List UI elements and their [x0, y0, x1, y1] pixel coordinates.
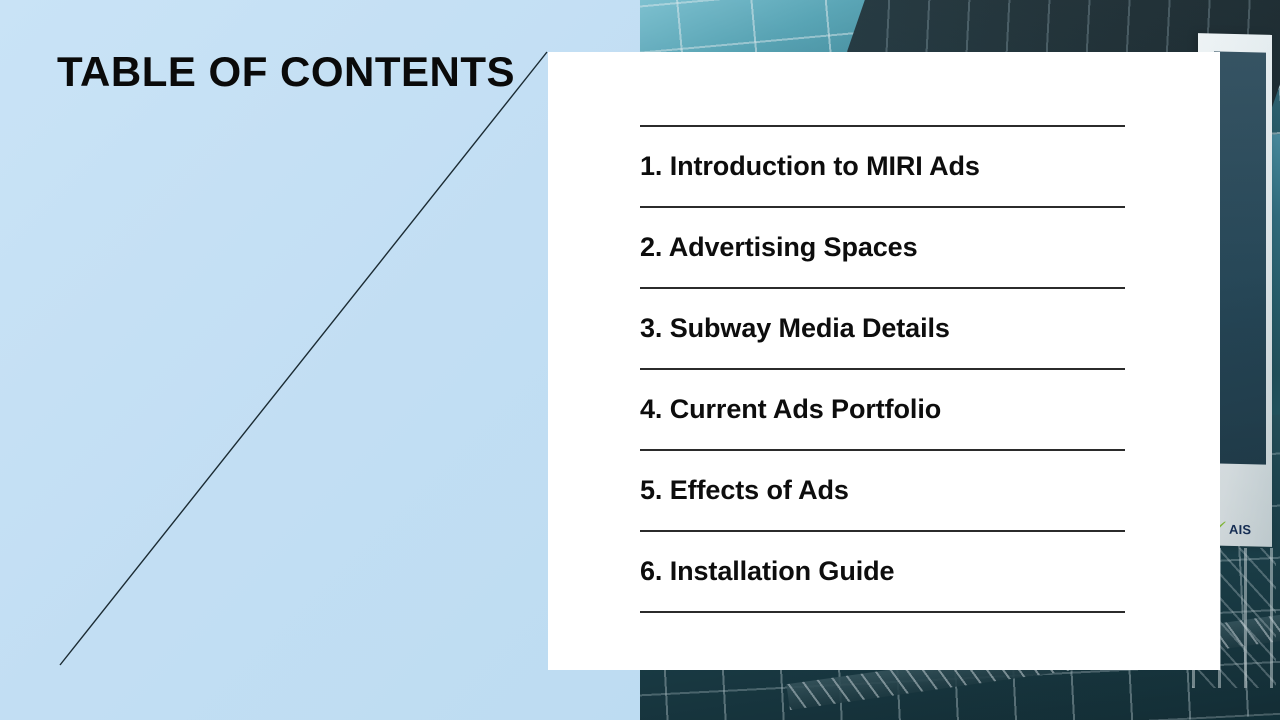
toc-item-2[interactable]: 2. Advertising Spaces [640, 206, 1125, 287]
toc-item-label: 2. Advertising Spaces [640, 233, 918, 263]
toc-item-label: 1. Introduction to MIRI Ads [640, 152, 980, 182]
toc-item-6[interactable]: 6. Installation Guide [640, 530, 1125, 613]
billboard-brand-label: AIS [1229, 522, 1251, 536]
toc-item-label: 6. Installation Guide [640, 557, 894, 587]
toc-card: 1. Introduction to MIRI Ads 2. Advertisi… [548, 52, 1220, 670]
toc-item-5[interactable]: 5. Effects of Ads [640, 449, 1125, 530]
toc-list: 1. Introduction to MIRI Ads 2. Advertisi… [640, 125, 1125, 613]
page-title: TABLE OF CONTENTS [57, 51, 515, 93]
toc-item-label: 3. Subway Media Details [640, 314, 950, 344]
toc-item-label: 5. Effects of Ads [640, 476, 849, 506]
toc-item-1[interactable]: 1. Introduction to MIRI Ads [640, 125, 1125, 206]
slide: AIS TABLE OF CONTENTS 1. Introduction to… [0, 0, 1280, 720]
photo-billboard-panel [1214, 51, 1266, 464]
toc-item-3[interactable]: 3. Subway Media Details [640, 287, 1125, 368]
toc-item-label: 4. Current Ads Portfolio [640, 395, 941, 425]
toc-item-4[interactable]: 4. Current Ads Portfolio [640, 368, 1125, 449]
